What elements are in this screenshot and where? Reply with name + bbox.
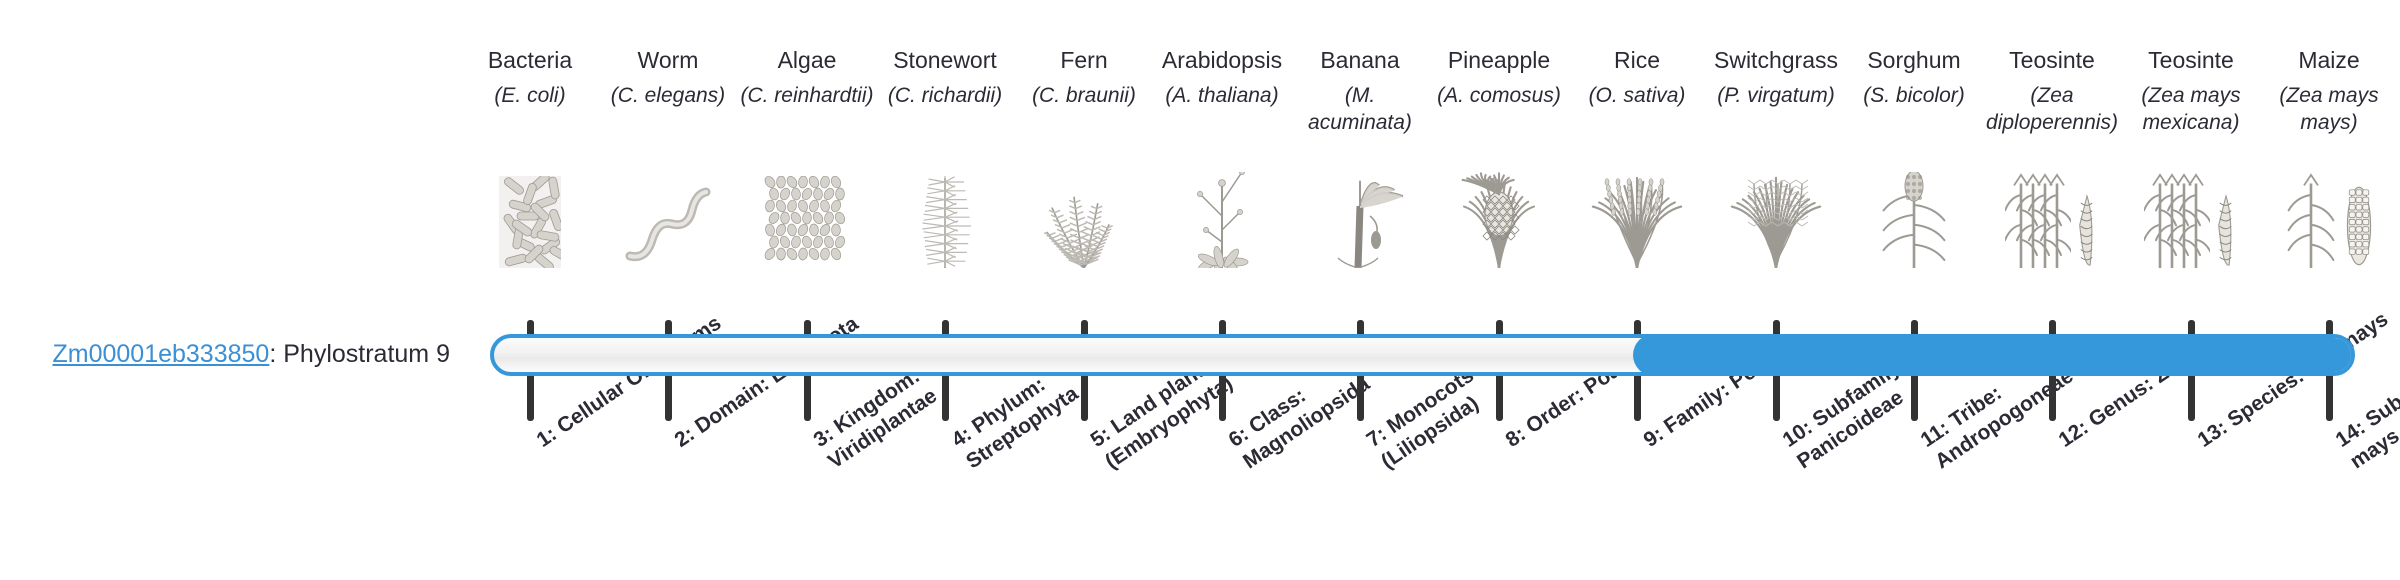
species-common-name: Maize [2260, 46, 2398, 74]
species-column: Rice(O. sativa) [1568, 46, 1706, 136]
stratum-number: 12: [2055, 416, 2093, 452]
maize-icon [2260, 168, 2398, 268]
species-latin-name: (M. acuminata) [1291, 82, 1429, 136]
species-column: Banana(M. acuminata) [1291, 46, 1429, 136]
fern-icon [1015, 168, 1153, 268]
species-column: Algae(C. reinhardtii) [738, 46, 876, 136]
sorghum-icon [1845, 168, 1983, 268]
species-latin-name: (A. thaliana) [1153, 82, 1291, 136]
phylostratum-progress-fill [1633, 334, 2355, 376]
algae-icon [738, 168, 876, 268]
species-column: Sorghum(S. bicolor) [1845, 46, 1983, 136]
worm-icon [599, 168, 737, 268]
species-column: Bacteria(E. coli) [461, 46, 599, 136]
stratum-number: 13: [2194, 416, 2232, 452]
species-column: Switchgrass(P. virgatum) [1707, 46, 1845, 136]
species-latin-name: (Zea diploperennis) [1983, 82, 2121, 136]
switchgrass-icon [1707, 168, 1845, 268]
species-column: Teosinte(Zea diploperennis) [1983, 46, 2121, 136]
species-latin-name: (C. elegans) [599, 82, 737, 136]
species-common-name: Sorghum [1845, 46, 1983, 74]
species-common-name: Banana [1291, 46, 1429, 74]
species-common-name: Teosinte [2122, 46, 2260, 74]
species-common-name: Bacteria [461, 46, 599, 74]
stonewort-icon [876, 168, 1014, 268]
species-latin-name: (Zea mays mexicana) [2122, 82, 2260, 136]
species-column: Worm(C. elegans) [599, 46, 737, 136]
arabidopsis-icon [1153, 168, 1291, 268]
species-common-name: Stonewort [876, 46, 1014, 74]
stratum-number: 1: [533, 422, 561, 452]
stratum-name: Phylum: Streptophyta [962, 373, 1082, 474]
stratum-name: Class: Magnoliopsida [1239, 372, 1374, 473]
species-common-name: Teosinte [1983, 46, 2121, 74]
teosinte-icon [2122, 168, 2260, 268]
species-latin-name: (P. virgatum) [1707, 82, 1845, 136]
species-latin-name: (O. sativa) [1568, 82, 1706, 136]
species-common-name: Rice [1568, 46, 1706, 74]
species-column: Fern(C. braunii) [1015, 46, 1153, 136]
species-column: Teosinte(Zea mays mexicana) [2122, 46, 2260, 136]
species-latin-name: (A. comosus) [1430, 82, 1568, 136]
teosinte-icon [1983, 168, 2121, 268]
species-column: Pineapple(A. comosus) [1430, 46, 1568, 136]
species-latin-name: (Zea mays mays) [2260, 82, 2398, 136]
species-common-name: Arabidopsis [1153, 46, 1291, 74]
species-latin-name: (C. reinhardtii) [738, 82, 876, 136]
species-column: Stonewort(C. richardii) [876, 46, 1014, 136]
species-common-name: Worm [599, 46, 737, 74]
species-latin-name: (C. richardii) [876, 82, 1014, 136]
rice-icon [1568, 168, 1706, 268]
species-common-name: Fern [1015, 46, 1153, 74]
stratum-number: 2: [671, 422, 699, 452]
species-common-name: Pineapple [1430, 46, 1568, 74]
species-column: Maize(Zea mays mays) [2260, 46, 2398, 136]
species-common-name: Switchgrass [1707, 46, 1845, 74]
phylostratum-progress-track[interactable] [490, 334, 2355, 376]
species-common-name: Algae [738, 46, 876, 74]
bacteria-icon [461, 168, 599, 268]
species-latin-name: (E. coli) [461, 82, 599, 136]
phylostratigraphy-axis: Bacteria(E. coli)Worm(C. elegans)Algae(C… [0, 0, 2400, 580]
stratum-number: 9: [1640, 422, 1668, 452]
banana-icon [1291, 168, 1429, 268]
species-column: Arabidopsis(A. thaliana) [1153, 46, 1291, 136]
species-latin-name: (S. bicolor) [1845, 82, 1983, 136]
stratum-name: Kingdom: Viridiplantae [824, 364, 941, 473]
pineapple-icon [1430, 168, 1568, 268]
stratum-number: 8: [1502, 422, 1530, 452]
species-latin-name: (C. braunii) [1015, 82, 1153, 136]
